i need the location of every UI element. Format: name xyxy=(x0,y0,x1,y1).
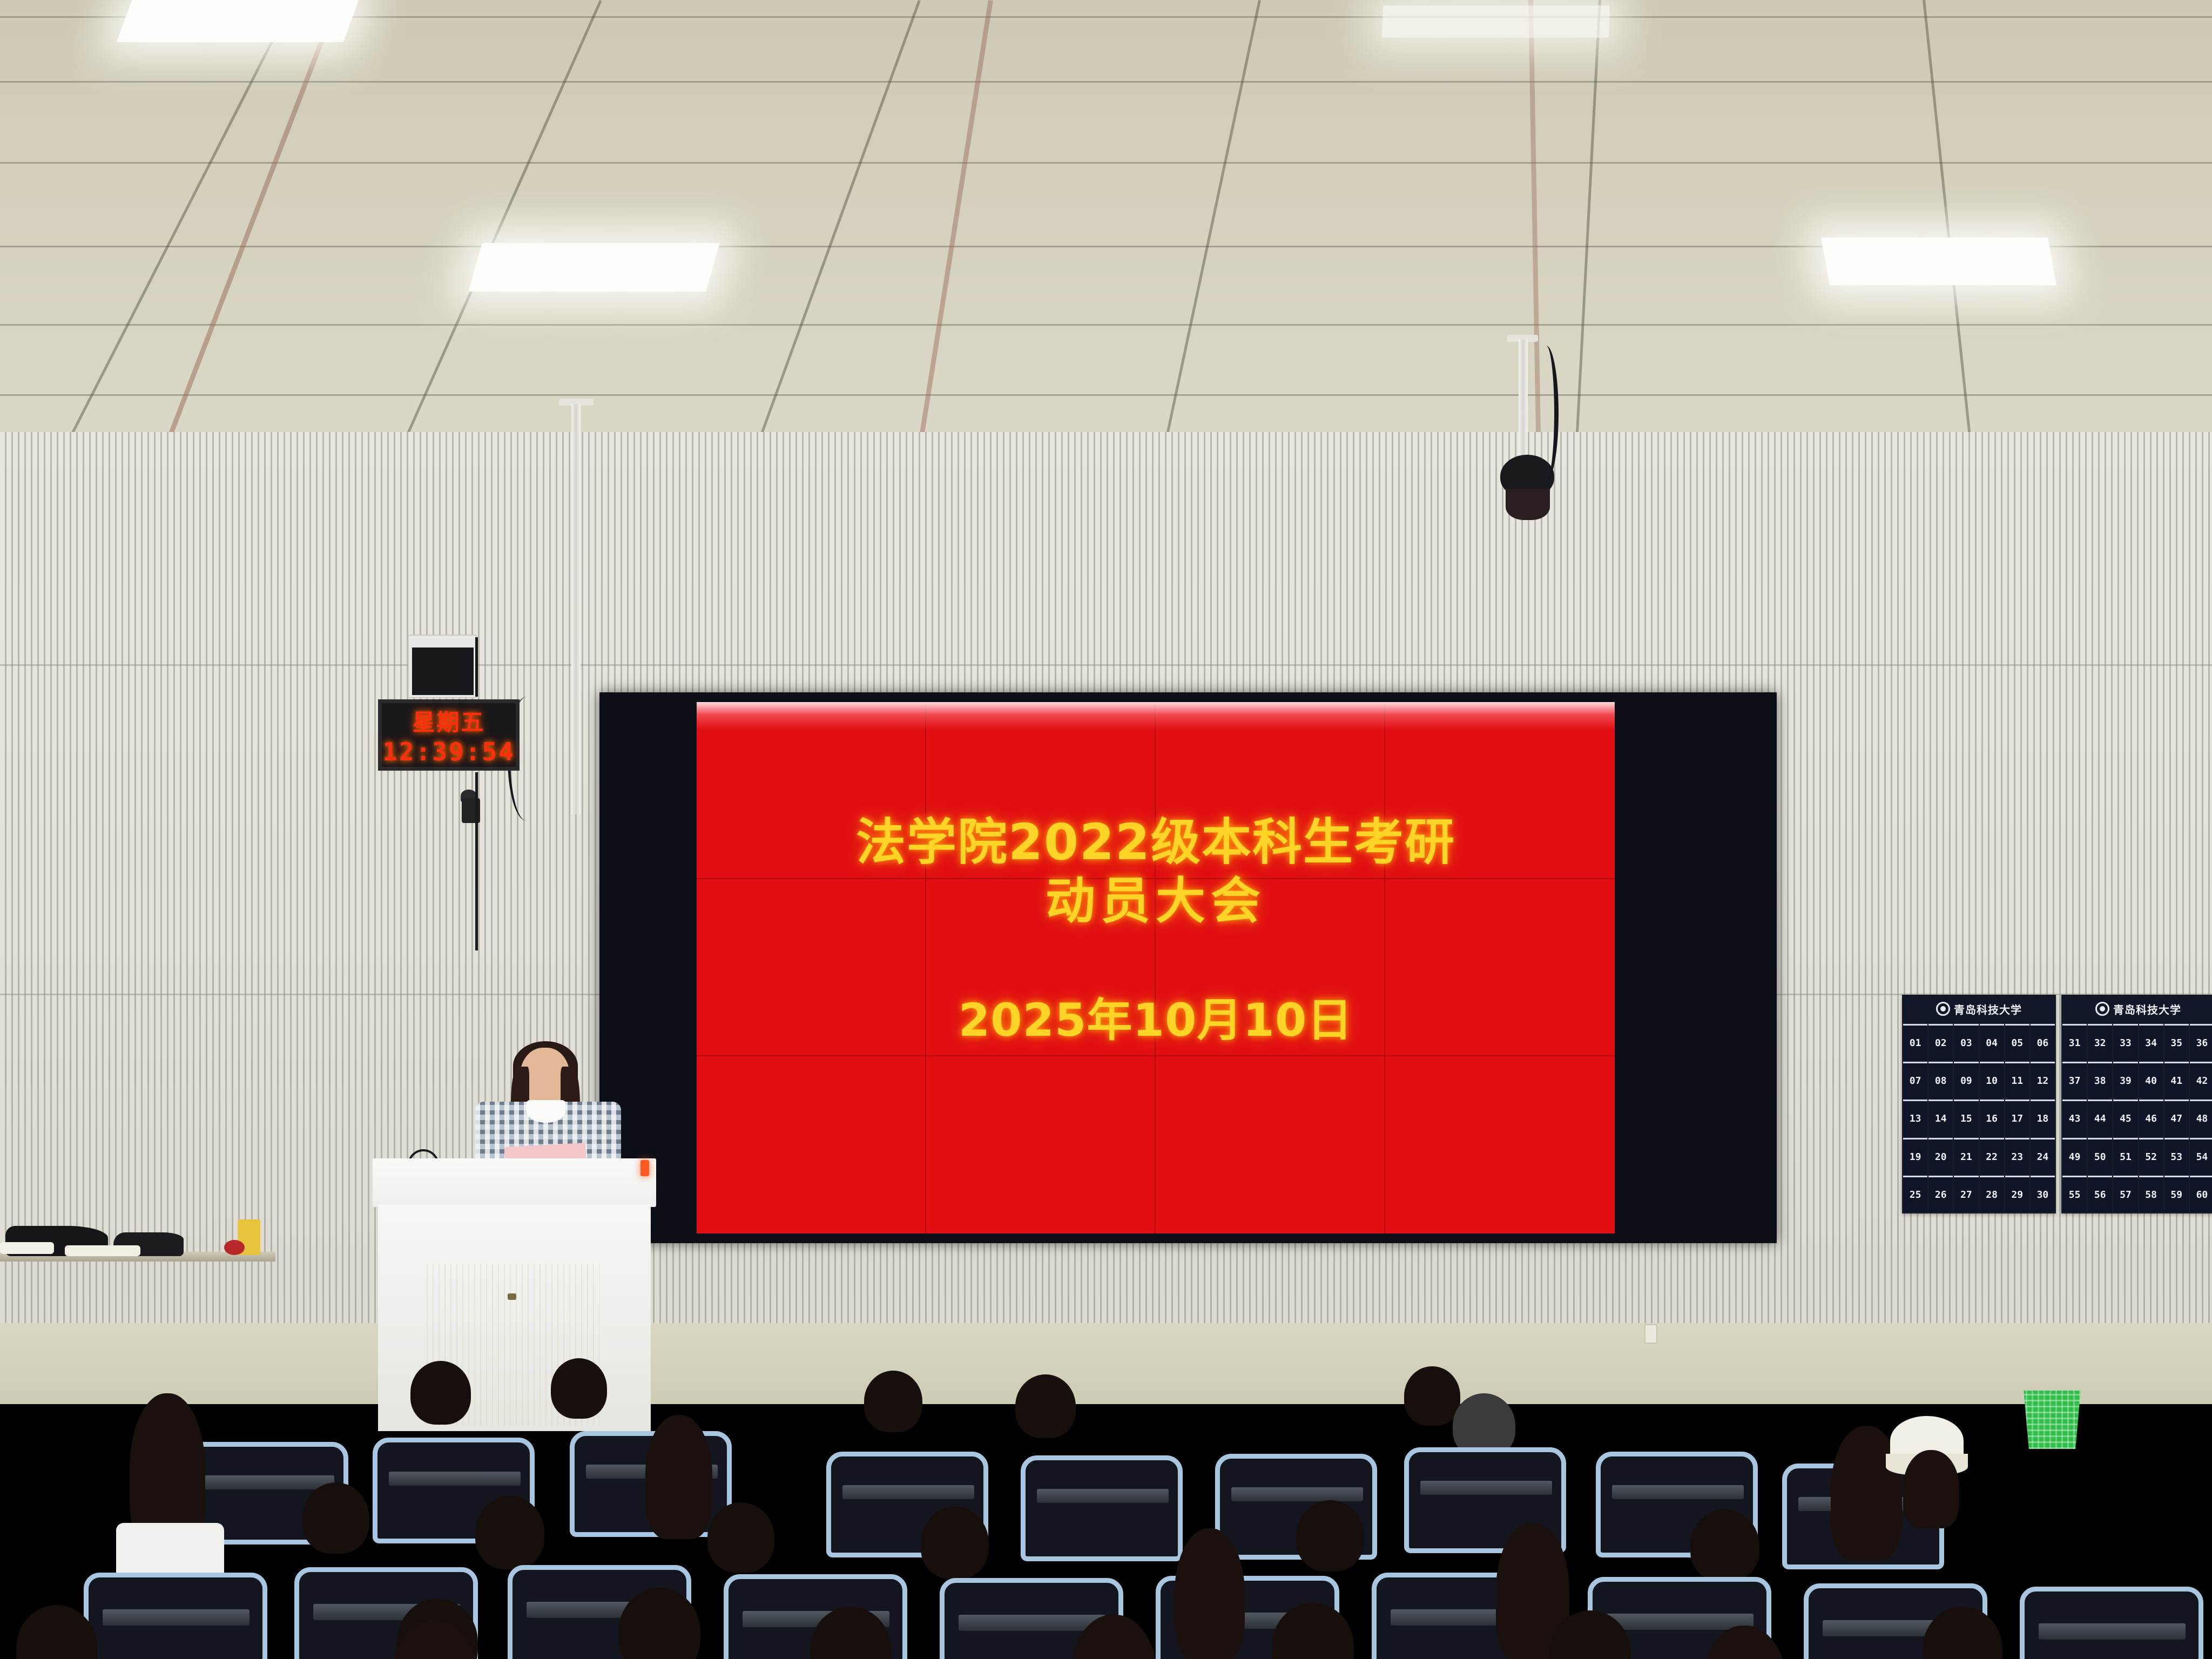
audience-head xyxy=(707,1502,774,1573)
pocket-slot[interactable]: 28 xyxy=(1980,1176,2004,1212)
podium-knob xyxy=(508,1293,516,1300)
pocket-slot[interactable]: 36 xyxy=(2190,1024,2212,1061)
pocket-slot[interactable]: 02 xyxy=(1928,1024,1953,1061)
pocket-slot[interactable]: 38 xyxy=(2088,1062,2112,1098)
audience-head xyxy=(1296,1500,1364,1572)
pocket-slot[interactable]: 22 xyxy=(1980,1138,2004,1175)
pocket-slot[interactable]: 52 xyxy=(2139,1138,2163,1175)
pocket-slot[interactable]: 34 xyxy=(2139,1024,2163,1061)
shelf-paper xyxy=(65,1245,140,1256)
speaker-collar xyxy=(527,1100,565,1123)
pocket-slot[interactable]: 44 xyxy=(2088,1100,2112,1136)
pocket-slot[interactable]: 39 xyxy=(2113,1062,2137,1098)
pocket-slot[interactable]: 57 xyxy=(2113,1176,2137,1212)
ceiling xyxy=(0,0,2212,454)
pocket-grid-left: 0102030405060708091011121314151617181920… xyxy=(1902,1023,2056,1213)
pocket-slot[interactable]: 01 xyxy=(1903,1024,1927,1061)
ceiling-light-panel xyxy=(1821,238,2056,285)
pocket-slot[interactable]: 41 xyxy=(2164,1062,2189,1098)
pocket-slot[interactable]: 59 xyxy=(2164,1176,2189,1212)
audience-head xyxy=(551,1358,607,1419)
shelf-paper xyxy=(0,1242,54,1254)
pocket-panel-right: 青岛科技大学 313233343536373839404142434445464… xyxy=(2061,995,2212,1213)
pocket-slot[interactable]: 60 xyxy=(2190,1176,2212,1212)
pocket-slot[interactable]: 09 xyxy=(1954,1062,1978,1098)
pocket-slot[interactable]: 13 xyxy=(1903,1100,1927,1136)
clock-weekday: 星期五 xyxy=(412,704,485,737)
pocket-slot[interactable]: 21 xyxy=(1954,1138,1978,1175)
pocket-slot[interactable]: 10 xyxy=(1980,1062,2004,1098)
pocket-slot[interactable]: 53 xyxy=(2164,1138,2189,1175)
audience-hair xyxy=(1175,1528,1245,1659)
auditorium-scene: 法学院2022级本科生考研 动员大会 2025年10月10日 星期五 12:39… xyxy=(0,0,2212,1659)
pocket-slot[interactable]: 26 xyxy=(1928,1176,1953,1212)
ceiling-light-panel xyxy=(468,243,720,292)
podium-top xyxy=(373,1158,656,1207)
pocket-slot[interactable]: 48 xyxy=(2190,1100,2212,1136)
ceiling-light-panel xyxy=(117,0,359,42)
pocket-slot[interactable]: 46 xyxy=(2139,1100,2163,1136)
pocket-slot[interactable]: 14 xyxy=(1928,1100,1953,1136)
pocket-slot[interactable]: 17 xyxy=(2005,1100,2029,1136)
pocket-slot[interactable]: 19 xyxy=(1903,1138,1927,1175)
pocket-slot[interactable]: 43 xyxy=(2062,1100,2087,1136)
pocket-slot[interactable]: 07 xyxy=(1903,1062,1927,1098)
pocket-slot[interactable]: 24 xyxy=(2031,1138,2055,1175)
seat[interactable] xyxy=(1021,1455,1183,1561)
seat[interactable] xyxy=(2020,1587,2203,1659)
pocket-slot[interactable]: 11 xyxy=(2005,1062,2029,1098)
pocket-slot[interactable]: 27 xyxy=(1954,1176,1978,1212)
pocket-slot[interactable]: 03 xyxy=(1954,1024,1978,1061)
pocket-slot[interactable]: 06 xyxy=(2031,1024,2055,1061)
audience-head xyxy=(1690,1509,1759,1582)
podium-status-indicator xyxy=(640,1160,649,1176)
pocket-header-label: 青岛科技大学 xyxy=(2113,1001,2181,1017)
pocket-slot[interactable]: 33 xyxy=(2113,1024,2137,1061)
projector-pole-icon xyxy=(571,404,581,814)
pocket-header-left: 青岛科技大学 xyxy=(1902,995,2056,1023)
pocket-slot[interactable]: 45 xyxy=(2113,1100,2137,1136)
wall-outlet-icon xyxy=(1644,1324,1657,1344)
pocket-slot[interactable]: 25 xyxy=(1903,1176,1927,1212)
camera-lens-icon xyxy=(1506,489,1550,520)
led-video-wall[interactable]: 法学院2022级本科生考研 动员大会 2025年10月10日 xyxy=(697,702,1615,1233)
pocket-slot[interactable]: 12 xyxy=(2031,1062,2055,1098)
pocket-slot[interactable]: 42 xyxy=(2190,1062,2212,1098)
pocket-slot[interactable]: 51 xyxy=(2113,1138,2137,1175)
pocket-slot[interactable]: 16 xyxy=(1980,1100,2004,1136)
pocket-panel-left: 青岛科技大学 010203040506070809101112131415161… xyxy=(1902,995,2056,1213)
pocket-grid-right: 3132333435363738394041424344454647484950… xyxy=(2061,1023,2212,1213)
audience-hair xyxy=(1903,1450,1959,1528)
pocket-slot[interactable]: 08 xyxy=(1928,1062,1953,1098)
pocket-slot[interactable]: 05 xyxy=(2005,1024,2029,1061)
ceiling-light-panel xyxy=(1382,5,1610,38)
slide-date: 2025年10月10日 xyxy=(959,984,1353,1049)
pocket-slot[interactable]: 40 xyxy=(2139,1062,2163,1098)
pocket-slot[interactable]: 15 xyxy=(1954,1100,1978,1136)
pocket-slot[interactable]: 58 xyxy=(2139,1176,2163,1212)
pocket-slot[interactable]: 50 xyxy=(2088,1138,2112,1175)
phone-pocket-organizer: 青岛科技大学 010203040506070809101112131415161… xyxy=(1902,995,2212,1213)
pocket-slot[interactable]: 32 xyxy=(2088,1024,2112,1061)
wall-device-screen xyxy=(412,648,474,695)
pocket-slot[interactable]: 29 xyxy=(2005,1176,2029,1212)
pocket-slot[interactable]: 20 xyxy=(1928,1138,1953,1175)
pocket-slot[interactable]: 04 xyxy=(1980,1024,2004,1061)
audience-head xyxy=(864,1371,922,1432)
pocket-slot[interactable]: 30 xyxy=(2031,1176,2055,1212)
pocket-slot[interactable]: 55 xyxy=(2062,1176,2087,1212)
clock-time: 12:39:54 xyxy=(382,737,515,766)
audience-head xyxy=(410,1361,471,1425)
university-seal-icon xyxy=(1936,1002,1950,1016)
led-digital-clock: 星期五 12:39:54 xyxy=(378,699,520,771)
audience-hair xyxy=(645,1415,712,1539)
pocket-slot[interactable]: 23 xyxy=(2005,1138,2029,1175)
pocket-slot[interactable]: 47 xyxy=(2164,1100,2189,1136)
pocket-slot[interactable]: 35 xyxy=(2164,1024,2189,1061)
audience-head xyxy=(475,1496,544,1569)
slide-title-line2: 动员大会 xyxy=(1046,870,1266,932)
audience-head xyxy=(302,1482,369,1554)
pocket-slot[interactable]: 18 xyxy=(2031,1100,2055,1136)
wall-mounted-display-unit xyxy=(408,635,477,698)
slide-title-line1: 法学院2022级本科生考研 xyxy=(856,814,1455,870)
pocket-header-label: 青岛科技大学 xyxy=(1954,1001,2022,1017)
pocket-slot[interactable]: 54 xyxy=(2190,1138,2212,1175)
pocket-slot[interactable]: 37 xyxy=(2062,1062,2087,1098)
audience-head xyxy=(921,1507,989,1579)
audience-area xyxy=(0,1361,2212,1659)
university-seal-icon xyxy=(2095,1002,2109,1016)
camera-pole xyxy=(1519,339,1528,474)
led-slide-text: 法学院2022级本科生考研 动员大会 2025年10月10日 xyxy=(697,702,1615,1233)
audience-head xyxy=(1015,1374,1076,1438)
pocket-slot[interactable]: 56 xyxy=(2088,1176,2112,1212)
pocket-slot[interactable]: 49 xyxy=(2062,1138,2087,1175)
audience-head xyxy=(1404,1366,1460,1426)
pocket-slot[interactable]: 31 xyxy=(2062,1024,2087,1061)
shelf-red-object xyxy=(224,1240,245,1255)
pocket-header-right: 青岛科技大学 xyxy=(2061,995,2212,1023)
